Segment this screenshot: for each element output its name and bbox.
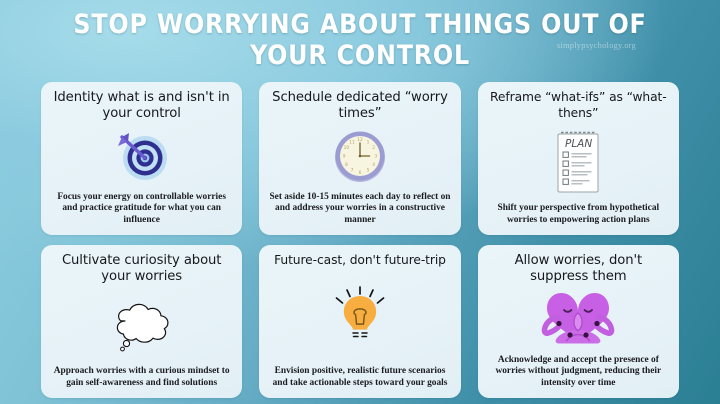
svg-text:7: 7 xyxy=(351,168,354,174)
card-title: Cultivate curiosity about your worries xyxy=(50,253,233,284)
svg-text:2: 2 xyxy=(372,145,375,151)
thought-bubble-icon xyxy=(50,284,233,366)
card-title: Identity what is and isn't in your contr… xyxy=(50,90,233,121)
watermark-source: simplypsychology.org xyxy=(557,40,636,50)
svg-text:6: 6 xyxy=(359,170,362,176)
lightbulb-icon xyxy=(268,269,451,367)
svg-text:3: 3 xyxy=(374,154,377,160)
card-title: Future-cast, don't future-trip xyxy=(274,253,446,269)
card-body: Set aside 10-15 minutes each day to refl… xyxy=(268,192,451,228)
card-body: Approach worries with a curious mindset … xyxy=(50,366,233,391)
svg-text:10: 10 xyxy=(344,145,350,151)
svg-text:4: 4 xyxy=(372,162,375,168)
card-worry-times[interactable]: Schedule dedicated “worry times” 12 1 2 … xyxy=(259,82,460,235)
svg-text:1: 1 xyxy=(367,140,370,146)
card-reframe-what-ifs[interactable]: Reframe “what-ifs” as “what-thens” PLAN xyxy=(478,82,679,235)
card-future-cast[interactable]: Future-cast, don't future-trip xyxy=(259,245,460,398)
poster-header: STOP WORRYING ABOUT THINGS OUT OF YOUR C… xyxy=(0,0,720,71)
card-title: Schedule dedicated “worry times” xyxy=(268,90,451,121)
card-body: Shift your perspective from hypothetical… xyxy=(487,203,670,228)
svg-text:8: 8 xyxy=(345,162,348,168)
target-dartboard-icon xyxy=(50,121,233,192)
svg-text:PLAN: PLAN xyxy=(565,138,592,150)
svg-text:12: 12 xyxy=(357,137,363,143)
card-body: Acknowledge and accept the presence of w… xyxy=(487,355,670,391)
svg-text:9: 9 xyxy=(343,154,346,160)
card-title: Reframe “what-ifs” as “what-thens” xyxy=(487,90,670,121)
meditating-heart-icon xyxy=(487,284,670,355)
title-line-1: STOP WORRYING ABOUT THINGS OUT OF xyxy=(36,9,684,40)
card-title: Allow worries, don't suppress them xyxy=(487,253,670,284)
card-allow-worries[interactable]: Allow worries, don't suppress them xyxy=(478,245,679,398)
svg-text:5: 5 xyxy=(367,168,370,174)
card-identify-control[interactable]: Identity what is and isn't in your contr… xyxy=(41,82,242,235)
card-body: Envision positive, realistic future scen… xyxy=(268,366,451,391)
svg-text:11: 11 xyxy=(349,140,355,146)
plan-checklist-icon: PLAN xyxy=(487,121,670,203)
tips-grid: Identity what is and isn't in your contr… xyxy=(41,82,679,398)
card-cultivate-curiosity[interactable]: Cultivate curiosity about your worries A… xyxy=(41,245,242,398)
infographic-poster: STOP WORRYING ABOUT THINGS OUT OF YOUR C… xyxy=(0,0,720,404)
card-body: Focus your energy on controllable worrie… xyxy=(50,192,233,228)
clock-icon: 12 1 2 3 4 5 6 7 8 9 10 11 xyxy=(268,121,451,192)
